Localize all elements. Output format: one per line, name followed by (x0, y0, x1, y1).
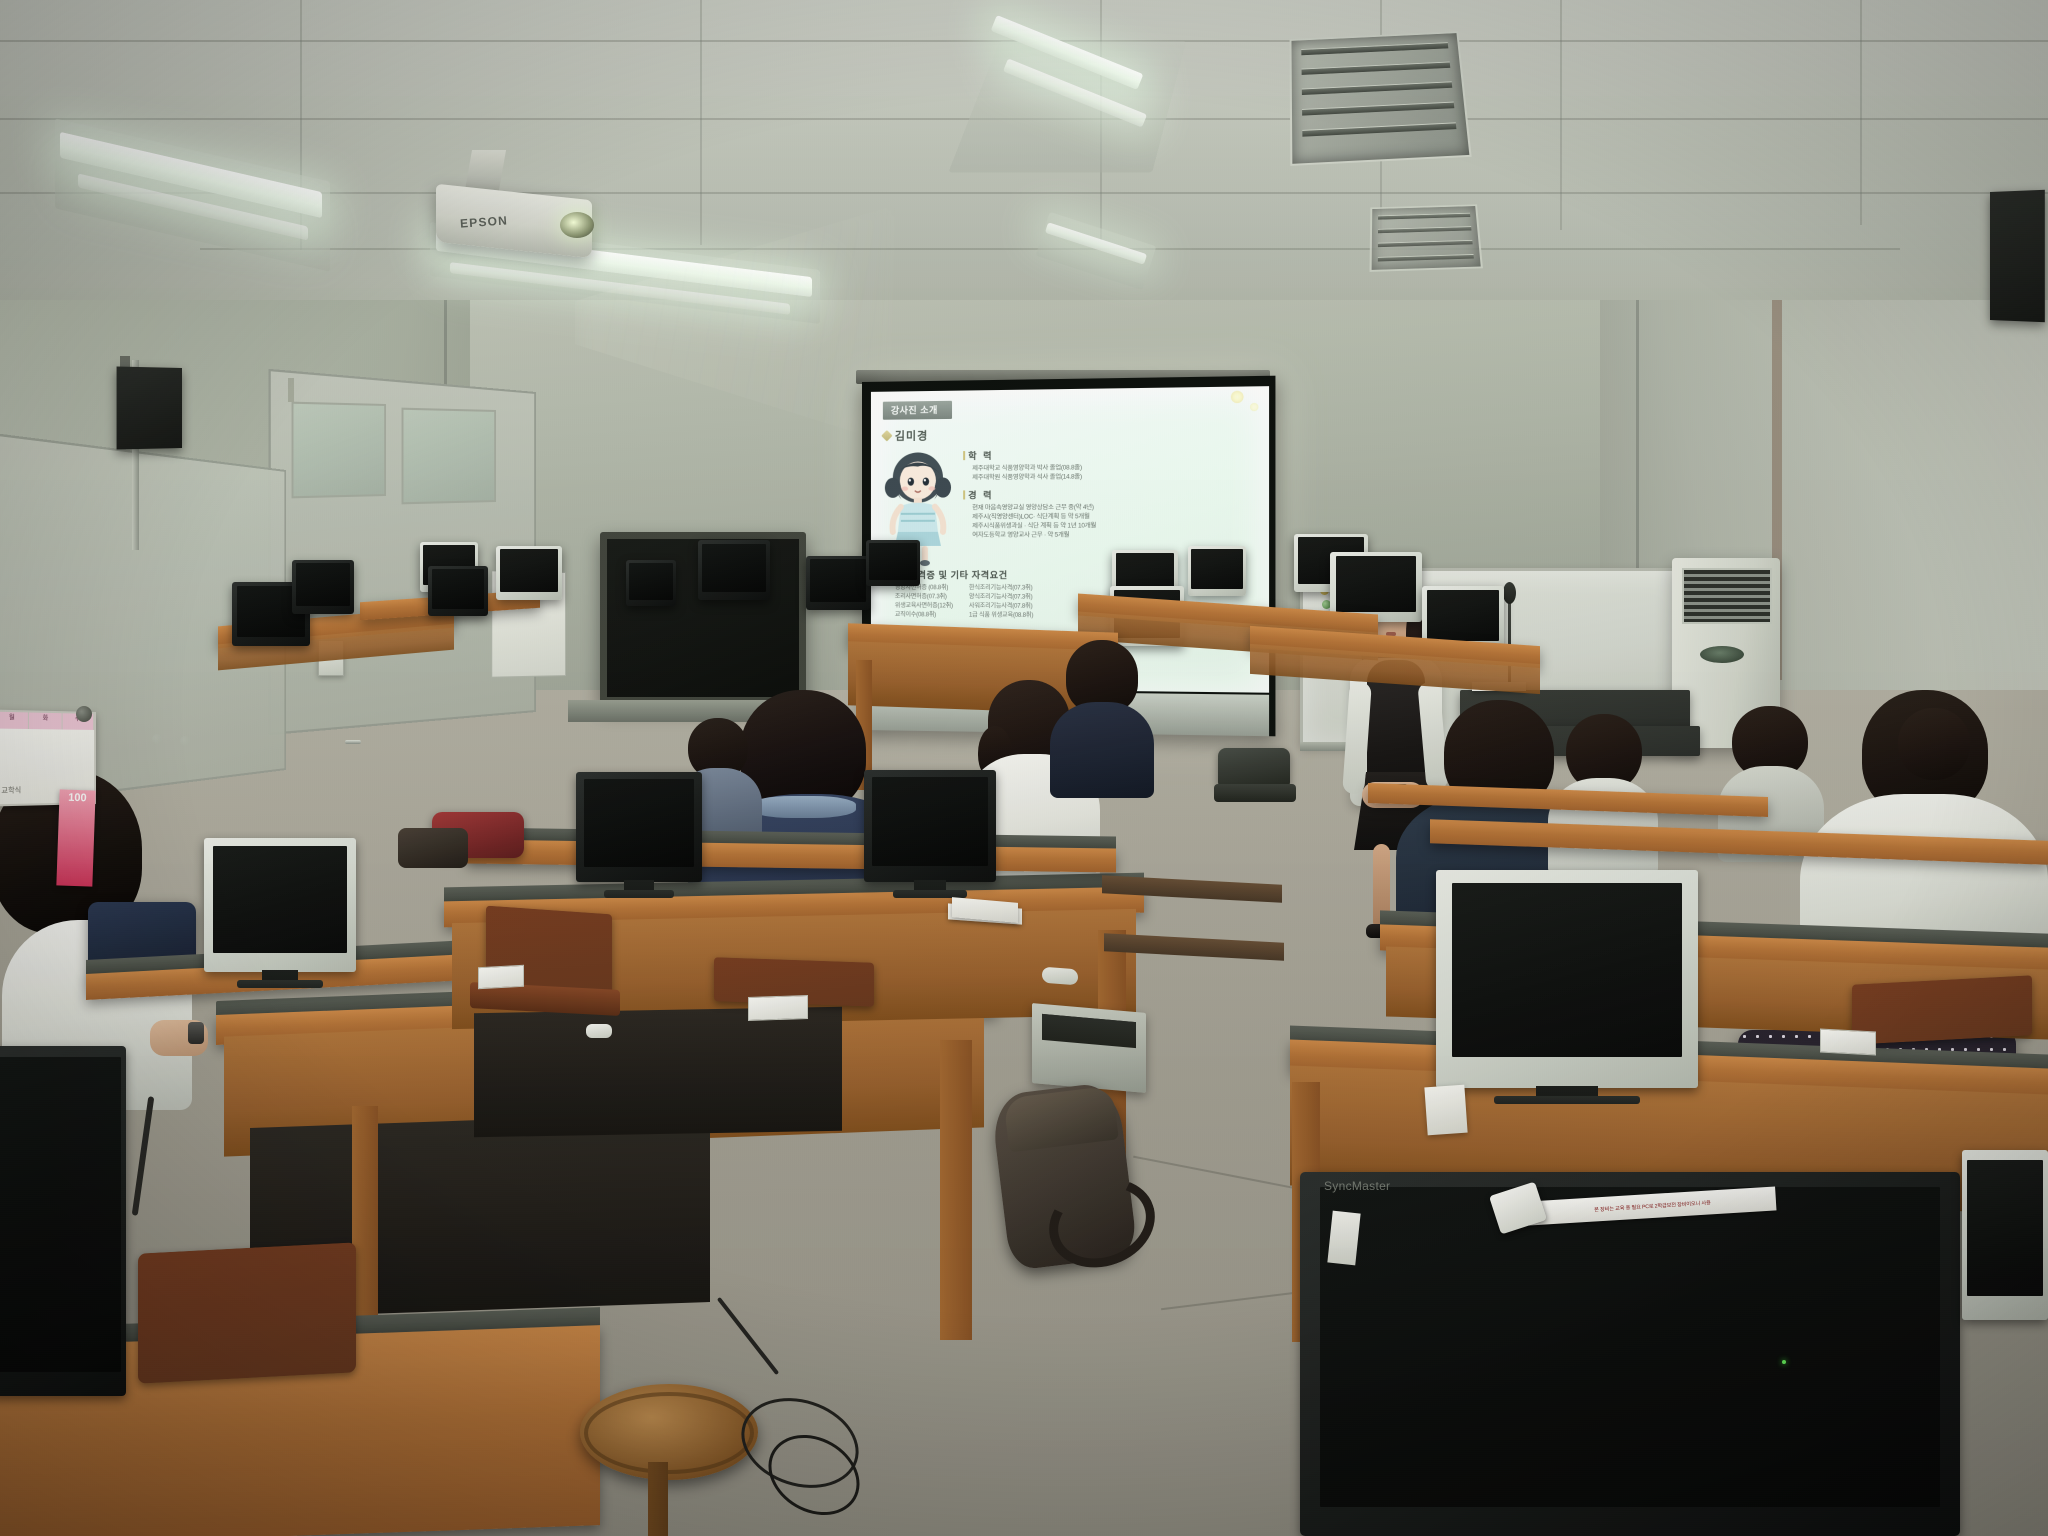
section-line: 여자도등학교 영양교사 근무 · 약 5개월 (972, 530, 1258, 540)
section-line: 제주대학원 식품영양학과 석사 졸업(14.8졸) (972, 471, 1258, 482)
monitor-power-led (1782, 1360, 1786, 1364)
qualification-item: 교직이수(08.8취) (895, 611, 953, 620)
ceiling-grid-vline (700, 0, 702, 245)
microphone-head (1503, 582, 1516, 604)
monitor-back-5 (428, 566, 488, 616)
poster-header-cell: 월 (0, 712, 29, 729)
qualification-item: 1급 식품 위생교육(08.8취) (969, 612, 1033, 621)
stool-leg (648, 1462, 668, 1536)
monitor-back-2 (292, 560, 354, 614)
qualifications-column-left: 영양사면허증 (08.8취) 조리사면허증(07.3취) 위생교육사면허증(12… (895, 584, 953, 620)
section-tick-icon (963, 451, 965, 460)
qualifications-column-right: 한식조리기능사격(07.3취) 양식조리기능사격(07.3취) 사워조리기능사격… (969, 584, 1033, 621)
student-torso (1050, 702, 1154, 798)
monitor-back-7 (806, 556, 870, 610)
bag-on-back-desk-dark (398, 828, 468, 868)
student-center-back (1050, 640, 1154, 790)
diamond-bullet-icon (881, 430, 892, 441)
section-tick-icon (963, 490, 965, 499)
item-on-desk-white (586, 1024, 612, 1038)
poster-header-cell: 화 (29, 712, 62, 729)
projector-lens (560, 212, 594, 238)
monitor-side-tag (1327, 1211, 1360, 1266)
cabinet-glass-pane-1 (292, 402, 386, 499)
poster-label: 교학식 (1, 785, 21, 796)
monitor-foreground-left-white (204, 838, 356, 972)
monitor-right-back-2 (1188, 546, 1246, 596)
slide-presenter-name: 김미경 (895, 427, 928, 443)
student-right-5 (1880, 708, 1990, 838)
ceiling-air-vent-right (1290, 31, 1472, 166)
desk-left-front-leg-right (940, 1040, 972, 1340)
desk-name-tag-2 (748, 995, 808, 1021)
ceiling-grid-vline (1860, 0, 1862, 225)
slide-decor-dot (1250, 403, 1258, 411)
slide-section-education: 학 력 제주대학교 식품영양학과 박사 졸업(08.8졸) 제주대학원 식품영양… (963, 446, 1258, 482)
stool-rim (584, 1392, 754, 1474)
qualification-item: 조리사면허증(07.3취) (895, 593, 953, 602)
desk-name-tag-3 (1820, 1029, 1876, 1056)
qualification-item: 양식조리기능사격(07.3취) (969, 593, 1033, 602)
slide-section-career: 경 력 현재 마음속영양교실 영양상담소 근무 중(약 4년) 제주시(직영양센… (963, 487, 1258, 540)
chair-bottom-left[interactable] (138, 1242, 356, 1383)
monitor-sticker-text: 본 장비는 교육 용 필요 PC로 2학급보전 장비이오니 사용 (1594, 1199, 1711, 1214)
monitor-back-6 (698, 540, 770, 600)
poster-tab-number: 100 (68, 792, 87, 805)
monitor-bottom-left-large (0, 1046, 126, 1396)
monitor-right-front-white (1436, 870, 1698, 1088)
student-collar (750, 796, 856, 818)
ceiling-grid-vline (1560, 0, 1562, 230)
monitor-foreground-large-black: SyncMaster (1300, 1172, 1960, 1536)
monitor-back-9 (626, 560, 676, 606)
slide-title-bar: 강사진 소개 (883, 401, 952, 420)
section-heading: 학 력 (968, 449, 993, 462)
monitor-brand-label: SyncMaster (1324, 1179, 1390, 1193)
slide-presenter-row: 김미경 (883, 424, 1259, 444)
mouse-on-desk[interactable] (1042, 967, 1078, 986)
qualification-item: 한식조리기능사격(07.3취) (969, 584, 1033, 593)
monitor-back-8 (866, 540, 920, 586)
monitor-center-black (864, 770, 996, 882)
desk-row2-cavity (474, 1007, 842, 1137)
chair-right[interactable] (1852, 975, 2032, 1044)
qualification-item: 위생교육사면허증(12취) (895, 602, 953, 611)
wall-conduit (288, 378, 294, 402)
air-conditioner-logo (1700, 646, 1744, 663)
air-conditioner-grille (1682, 568, 1772, 624)
poster-number-tab: 100 (56, 789, 95, 886)
wall-speaker-right (1990, 190, 2045, 322)
qualification-item: 사워조리기능사격(07.8취) (969, 602, 1033, 611)
student-wristband (188, 1022, 204, 1044)
cabinet-glass-pane-2 (402, 408, 496, 505)
poster-clip (76, 706, 92, 722)
ceiling-air-vent-center (1370, 204, 1483, 271)
monitor-back-4-white (496, 546, 562, 600)
cabinet-handle[interactable] (345, 740, 361, 744)
classroom-photograph: EPSON 강사진 소개 김미경 (0, 0, 2048, 1536)
monitor-right-edge-white (1962, 1150, 2048, 1320)
paper-right-front (1424, 1085, 1467, 1136)
desk-name-tag-1 (478, 965, 524, 989)
monitor-mid-left-black (576, 772, 702, 882)
slide-decor-dot (1231, 391, 1244, 404)
section-heading: 경 력 (968, 488, 993, 501)
student-head (1898, 708, 1970, 780)
teacher-chair-seat[interactable] (1214, 784, 1296, 802)
wall-speaker-left (117, 366, 182, 449)
